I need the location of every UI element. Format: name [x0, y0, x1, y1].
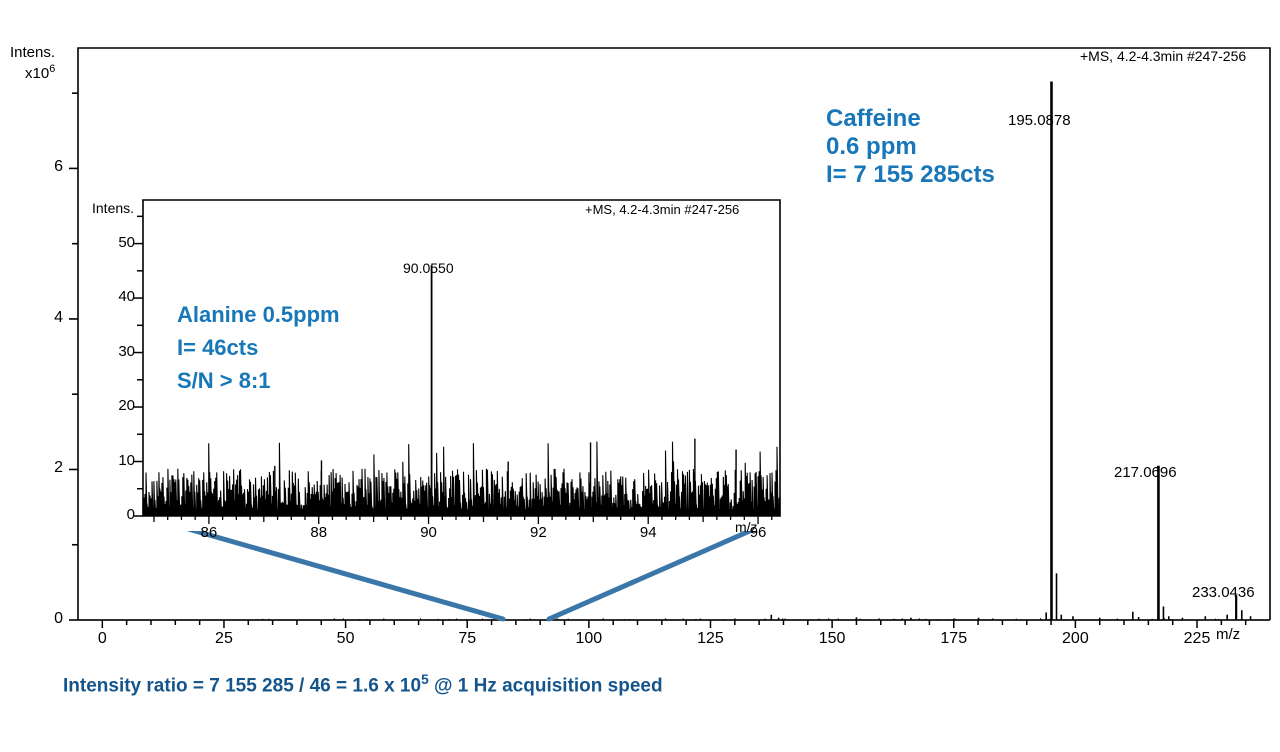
inset-y-axis-label: Intens.	[92, 200, 134, 216]
caffeine-annotation: Caffeine 0.6 ppm I= 7 155 285cts	[826, 105, 995, 189]
main-x-tick-25: 25	[194, 630, 254, 648]
inset-x-tick-94: 94	[620, 524, 676, 541]
inset-x-tick-88: 88	[291, 524, 347, 541]
main-y-axis-unit-exponent: 6	[49, 63, 55, 75]
main-y-tick-2: 2	[8, 459, 63, 477]
main-y-axis-label-text: Intens.	[10, 44, 55, 61]
main-x-tick-200: 200	[1045, 630, 1105, 648]
inset-y-tick-50: 50	[87, 234, 135, 251]
inset-y-tick-0: 0	[87, 506, 135, 523]
inset-y-tick-40: 40	[87, 288, 135, 305]
main-x-tick-125: 125	[680, 630, 740, 648]
main-chart-header: +MS, 4.2-4.3min #247-256	[1080, 48, 1246, 64]
inset-panel: Intens. +MS, 4.2-4.3min #247-256 90.0550…	[90, 186, 790, 531]
alanine-annotation-line2: I= 46cts	[177, 331, 340, 364]
figure-caption: Intensity ratio = 7 155 285 / 46 = 1.6 x…	[63, 672, 663, 697]
main-x-tick-0: 0	[72, 630, 132, 648]
main-y-axis-label: Intens.	[10, 44, 55, 61]
caffeine-annotation-line1: Caffeine	[826, 105, 995, 133]
inset-x-tick-90: 90	[401, 524, 457, 541]
inset-x-tick-92: 92	[510, 524, 566, 541]
inset-y-tick-20: 20	[87, 397, 135, 414]
main-y-axis-unit: x106	[25, 63, 55, 82]
main-y-tick-6: 6	[8, 158, 63, 176]
peak-label-195: 195.0878	[1008, 112, 1071, 129]
caffeine-annotation-line2: 0.6 ppm	[826, 133, 995, 161]
caption-exponent: 5	[421, 672, 429, 687]
alanine-annotation-line1: Alanine 0.5ppm	[177, 298, 340, 331]
main-x-tick-150: 150	[802, 630, 862, 648]
caption-pre: Intensity ratio = 7 155 285 / 46 = 1.6 x…	[63, 675, 421, 696]
peak-label-217: 217.0696	[1114, 464, 1177, 481]
caffeine-annotation-line3: I= 7 155 285cts	[826, 161, 995, 189]
main-y-axis-unit-text: x10	[25, 65, 49, 82]
inset-peak-label-90: 90.0550	[403, 260, 454, 276]
main-x-tick-225: 225	[1167, 630, 1227, 648]
alanine-annotation-line3: S/N > 8:1	[177, 364, 340, 397]
main-x-tick-175: 175	[924, 630, 984, 648]
inset-y-tick-10: 10	[87, 452, 135, 469]
alanine-annotation: Alanine 0.5ppm I= 46cts S/N > 8:1	[177, 298, 340, 397]
main-y-tick-4: 4	[8, 309, 63, 327]
inset-connector-lines	[143, 516, 784, 619]
inset-chart-header: +MS, 4.2-4.3min #247-256	[585, 202, 739, 217]
main-y-tick-0: 0	[8, 610, 63, 628]
peak-label-233: 233.0436	[1192, 584, 1255, 601]
inset-x-tick-86: 86	[181, 524, 237, 541]
main-x-tick-75: 75	[437, 630, 497, 648]
inset-y-tick-30: 30	[87, 343, 135, 360]
caption-post: @ 1 Hz acquisition speed	[429, 675, 663, 696]
main-x-tick-100: 100	[559, 630, 619, 648]
inset-x-tick-96: 96	[730, 524, 786, 541]
main-x-tick-50: 50	[316, 630, 376, 648]
